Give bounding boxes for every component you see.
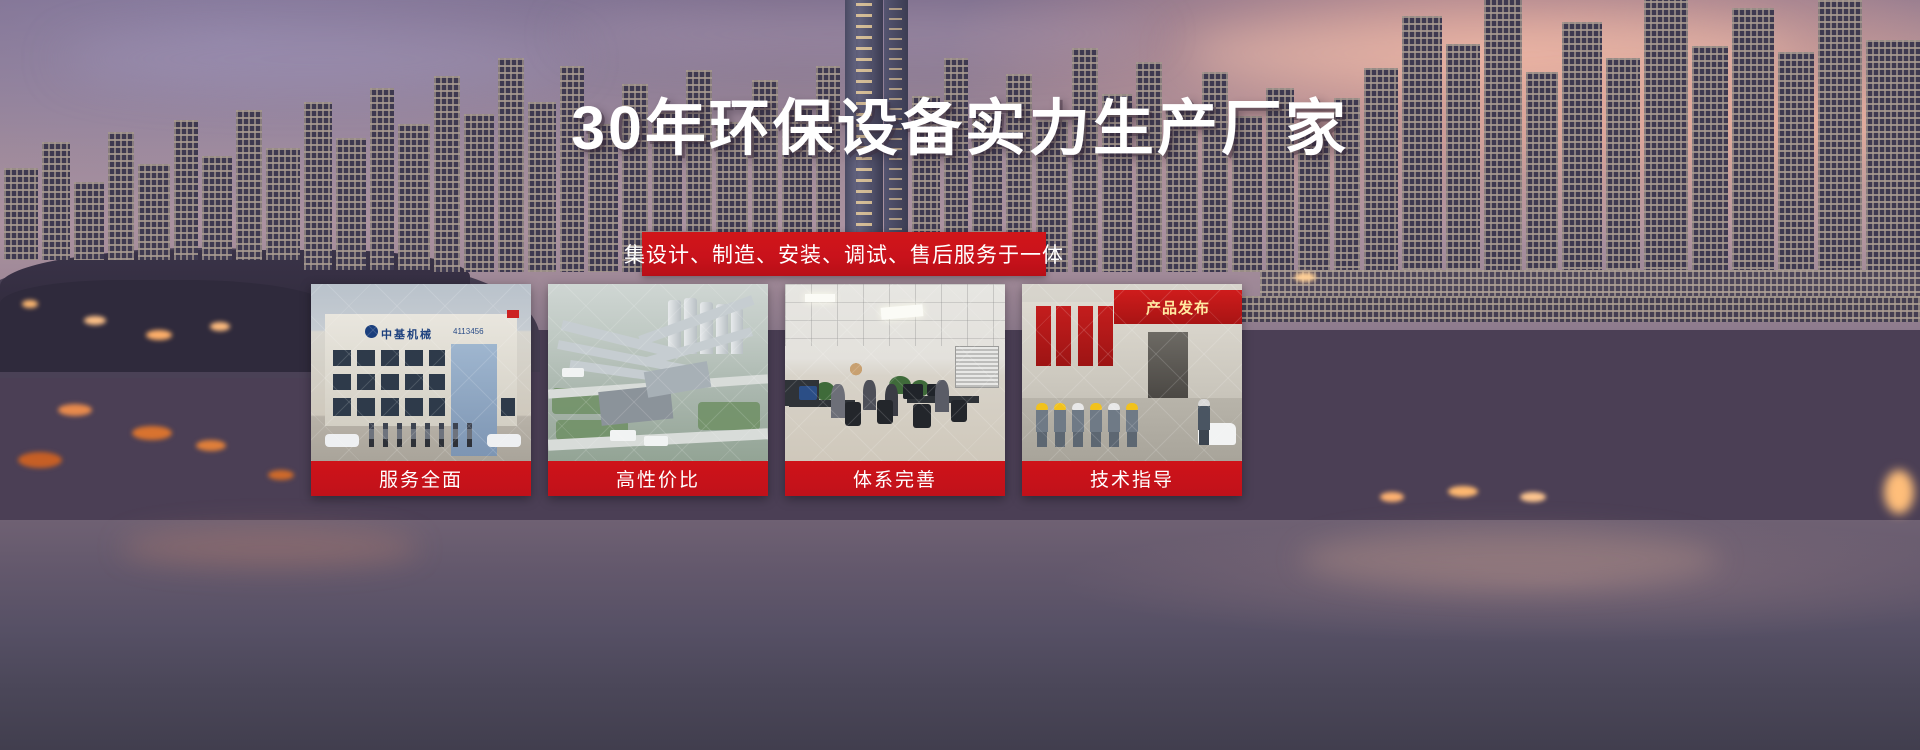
card-photo-aerial-plant — [548, 284, 768, 461]
building — [1606, 58, 1640, 284]
subtitle-text: 集设计、制造、安装、调试、售后服务于一体 — [624, 239, 1064, 269]
building — [138, 164, 170, 260]
photo-watermark — [785, 284, 1005, 461]
street-light — [1380, 492, 1404, 502]
hero-banner: 30年环保设备实力生产厂家 集设计、制造、安装、调试、售后服务于一体 中基机械 … — [0, 0, 1920, 750]
building — [1692, 46, 1728, 284]
card-label: 服务全面 — [311, 461, 531, 496]
feature-card[interactable]: 体系完善 — [785, 284, 1005, 496]
page-title: 30年环保设备实力生产厂家 — [0, 96, 1920, 161]
card-photo-office-interior — [785, 284, 1005, 461]
building — [74, 182, 104, 260]
street-light — [1520, 492, 1546, 502]
building — [202, 156, 232, 260]
feature-card[interactable]: 高性价比 — [548, 284, 768, 496]
photo-watermark — [1022, 284, 1242, 461]
building — [498, 58, 524, 272]
feature-card[interactable]: 产品发布 — [1022, 284, 1242, 496]
street-light — [58, 404, 92, 416]
street-light — [84, 316, 106, 325]
card-label: 技术指导 — [1022, 461, 1242, 496]
treeline — [0, 280, 330, 372]
feature-card[interactable]: 中基机械 4113456 — [311, 284, 531, 496]
card-label: 体系完善 — [785, 461, 1005, 496]
street-light — [268, 470, 294, 480]
street-light — [1884, 470, 1914, 514]
photo-watermark — [311, 284, 531, 461]
street-light — [18, 452, 62, 468]
building — [1778, 52, 1814, 284]
building — [266, 148, 300, 260]
building — [4, 168, 38, 260]
street-light — [132, 426, 172, 440]
street-light — [196, 440, 226, 451]
street-light — [210, 322, 230, 331]
waterfront-block — [1180, 296, 1920, 322]
street-light — [146, 330, 172, 340]
building — [1446, 44, 1480, 284]
street-light — [1448, 486, 1478, 497]
feature-card-list: 中基机械 4113456 — [311, 284, 1261, 496]
photo-watermark — [548, 284, 768, 461]
card-photo-factory-workers: 产品发布 — [1022, 284, 1242, 461]
street-light — [1294, 272, 1316, 282]
building — [1866, 40, 1920, 284]
subtitle-banner: 集设计、制造、安装、调试、售后服务于一体 — [642, 232, 1046, 276]
card-label: 高性价比 — [548, 461, 768, 496]
street-light — [22, 300, 38, 308]
card-photo-company-building: 中基机械 4113456 — [311, 284, 531, 461]
